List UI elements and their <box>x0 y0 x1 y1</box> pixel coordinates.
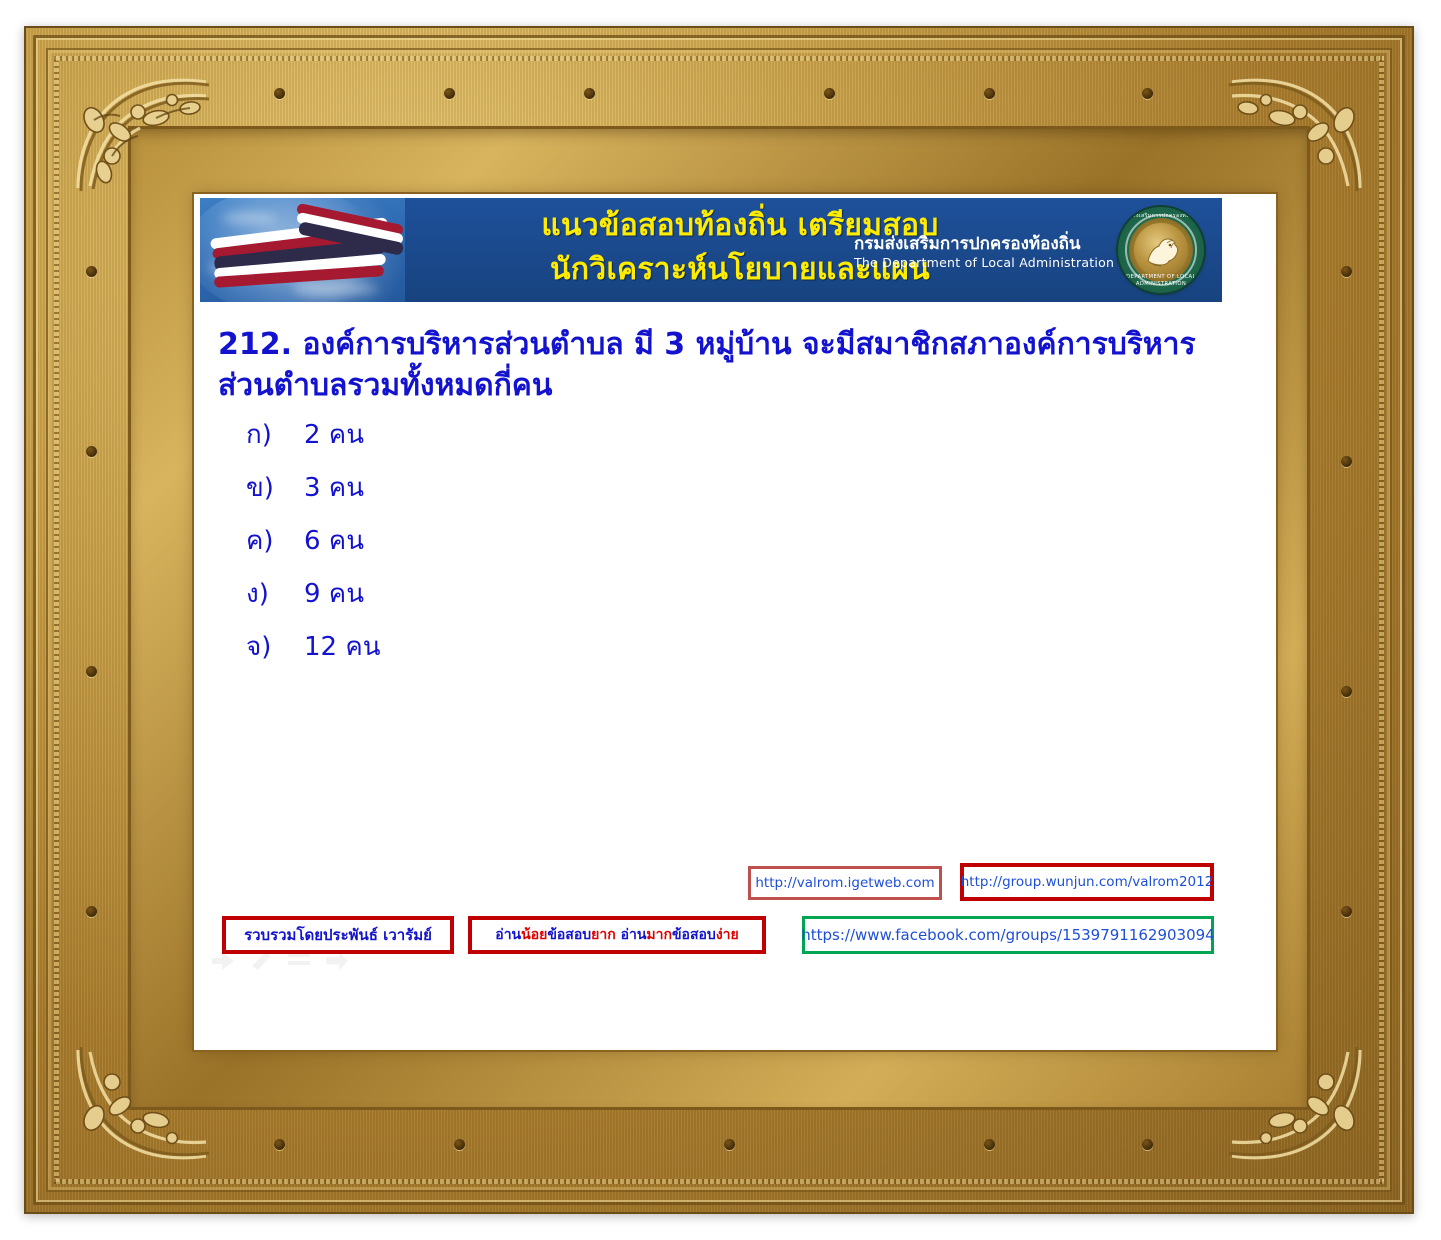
choice-label: 2 คน <box>304 420 364 450</box>
thai-national-flag-icon <box>200 198 405 302</box>
department-name-thai: กรมส่งเสริมการปกครองท้องถิ่น <box>854 234 1104 255</box>
frame-stud <box>274 1139 285 1150</box>
link-box-igetweb[interactable]: http://valrom.igetweb.com <box>748 866 942 900</box>
choice-key: ค) <box>246 526 304 556</box>
seal-text-bottom: DEPARTMENT OF LOCAL ADMINISTRATION <box>1118 274 1204 288</box>
choice-label: 12 คน <box>304 632 381 662</box>
motto-segment: อ่าน <box>621 927 647 943</box>
link-label-facebook: https://www.facebook.com/groups/15397911… <box>801 926 1214 944</box>
frame-stud <box>984 88 995 99</box>
motto-segment: อ่าน <box>495 927 521 943</box>
motto-label: อ่านน้อยข้อสอบยาก อ่านมากข้อสอบง่าย <box>495 926 738 944</box>
frame-stud <box>1341 686 1352 697</box>
frame-stud <box>86 906 97 917</box>
department-name-group: กรมส่งเสริมการปกครองท้องถิ่น The Departm… <box>854 234 1104 271</box>
choice-key: ง) <box>246 579 304 609</box>
choice-key: ข) <box>246 473 304 503</box>
frame-stud <box>86 266 97 277</box>
motto-segment: มาก <box>646 927 672 943</box>
frame-stud <box>86 446 97 457</box>
author-credit-box: รวบรวมโดยประพันธ์ เวารัมย์ <box>222 916 454 954</box>
choice-option-1[interactable]: ก) 2 คน <box>246 420 1222 450</box>
choice-label: 3 คน <box>304 473 364 503</box>
frame-stud <box>1341 456 1352 467</box>
frame-stud <box>274 88 285 99</box>
choice-key: ก) <box>246 420 304 450</box>
frame-stud <box>1341 906 1352 917</box>
choice-label: 9 คน <box>304 579 364 609</box>
frame-stud <box>454 1139 465 1150</box>
choice-option-4[interactable]: ง) 9 คน <box>246 579 1222 609</box>
department-name-english: The Department of Local Administration <box>854 255 1104 271</box>
choice-label: 6 คน <box>304 526 364 556</box>
frame-stud <box>824 88 835 99</box>
frame-stud <box>86 666 97 677</box>
link-label-igetweb: http://valrom.igetweb.com <box>755 874 934 892</box>
singha-lion-icon <box>1134 223 1188 277</box>
motto-segment: ข้อสอบ <box>547 927 591 943</box>
link-box-wunjun[interactable]: http://group.wunjun.com/valrom2012 <box>960 863 1214 901</box>
link-label-wunjun: http://group.wunjun.com/valrom2012 <box>961 873 1214 891</box>
department-seal-icon: กรมส่งเสริมการปกครองท้องถิ่น DEPARTMENT … <box>1118 207 1204 293</box>
seal-text-top: กรมส่งเสริมการปกครองท้องถิ่น <box>1118 213 1204 220</box>
frame-stud <box>1341 266 1352 277</box>
frame-stud <box>584 88 595 99</box>
frame-stud <box>444 88 455 99</box>
frame-stud <box>984 1139 995 1150</box>
choice-option-2[interactable]: ข) 3 คน <box>246 473 1222 503</box>
frame-stud <box>1142 88 1153 99</box>
question-text: 212. องค์การบริหารส่วนตำบล มี 3 หมู่บ้าน… <box>218 324 1198 406</box>
motto-segment: น้อย <box>521 927 547 943</box>
choice-key: จ) <box>246 632 304 662</box>
frame-stud <box>724 1139 735 1150</box>
choice-option-3[interactable]: ค) 6 คน <box>246 526 1222 556</box>
motto-segment: ยาก <box>591 927 616 943</box>
frame-stud <box>1142 1139 1153 1150</box>
choice-option-5[interactable]: จ) 12 คน <box>246 632 1222 662</box>
page-root: แนวข้อสอบท้องถิ่น เตรียมสอบ นักวิเคราะห์… <box>0 0 1441 1240</box>
header-banner: แนวข้อสอบท้องถิ่น เตรียมสอบ นักวิเคราะห์… <box>200 198 1222 302</box>
link-box-facebook[interactable]: https://www.facebook.com/groups/15397911… <box>802 916 1214 954</box>
motto-segment: ข้อสอบ <box>672 927 716 943</box>
motto-box: อ่านน้อยข้อสอบยาก อ่านมากข้อสอบง่าย <box>468 916 766 954</box>
slide-content: แนวข้อสอบท้องถิ่น เตรียมสอบ นักวิเคราะห์… <box>200 198 1222 998</box>
author-credit-label: รวบรวมโดยประพันธ์ เวารัมย์ <box>244 926 432 944</box>
choice-list: ก) 2 คน ข) 3 คน ค) 6 คน ง) 9 คน จ) 12 คน <box>246 420 1222 662</box>
motto-segment: ง่าย <box>716 927 739 943</box>
